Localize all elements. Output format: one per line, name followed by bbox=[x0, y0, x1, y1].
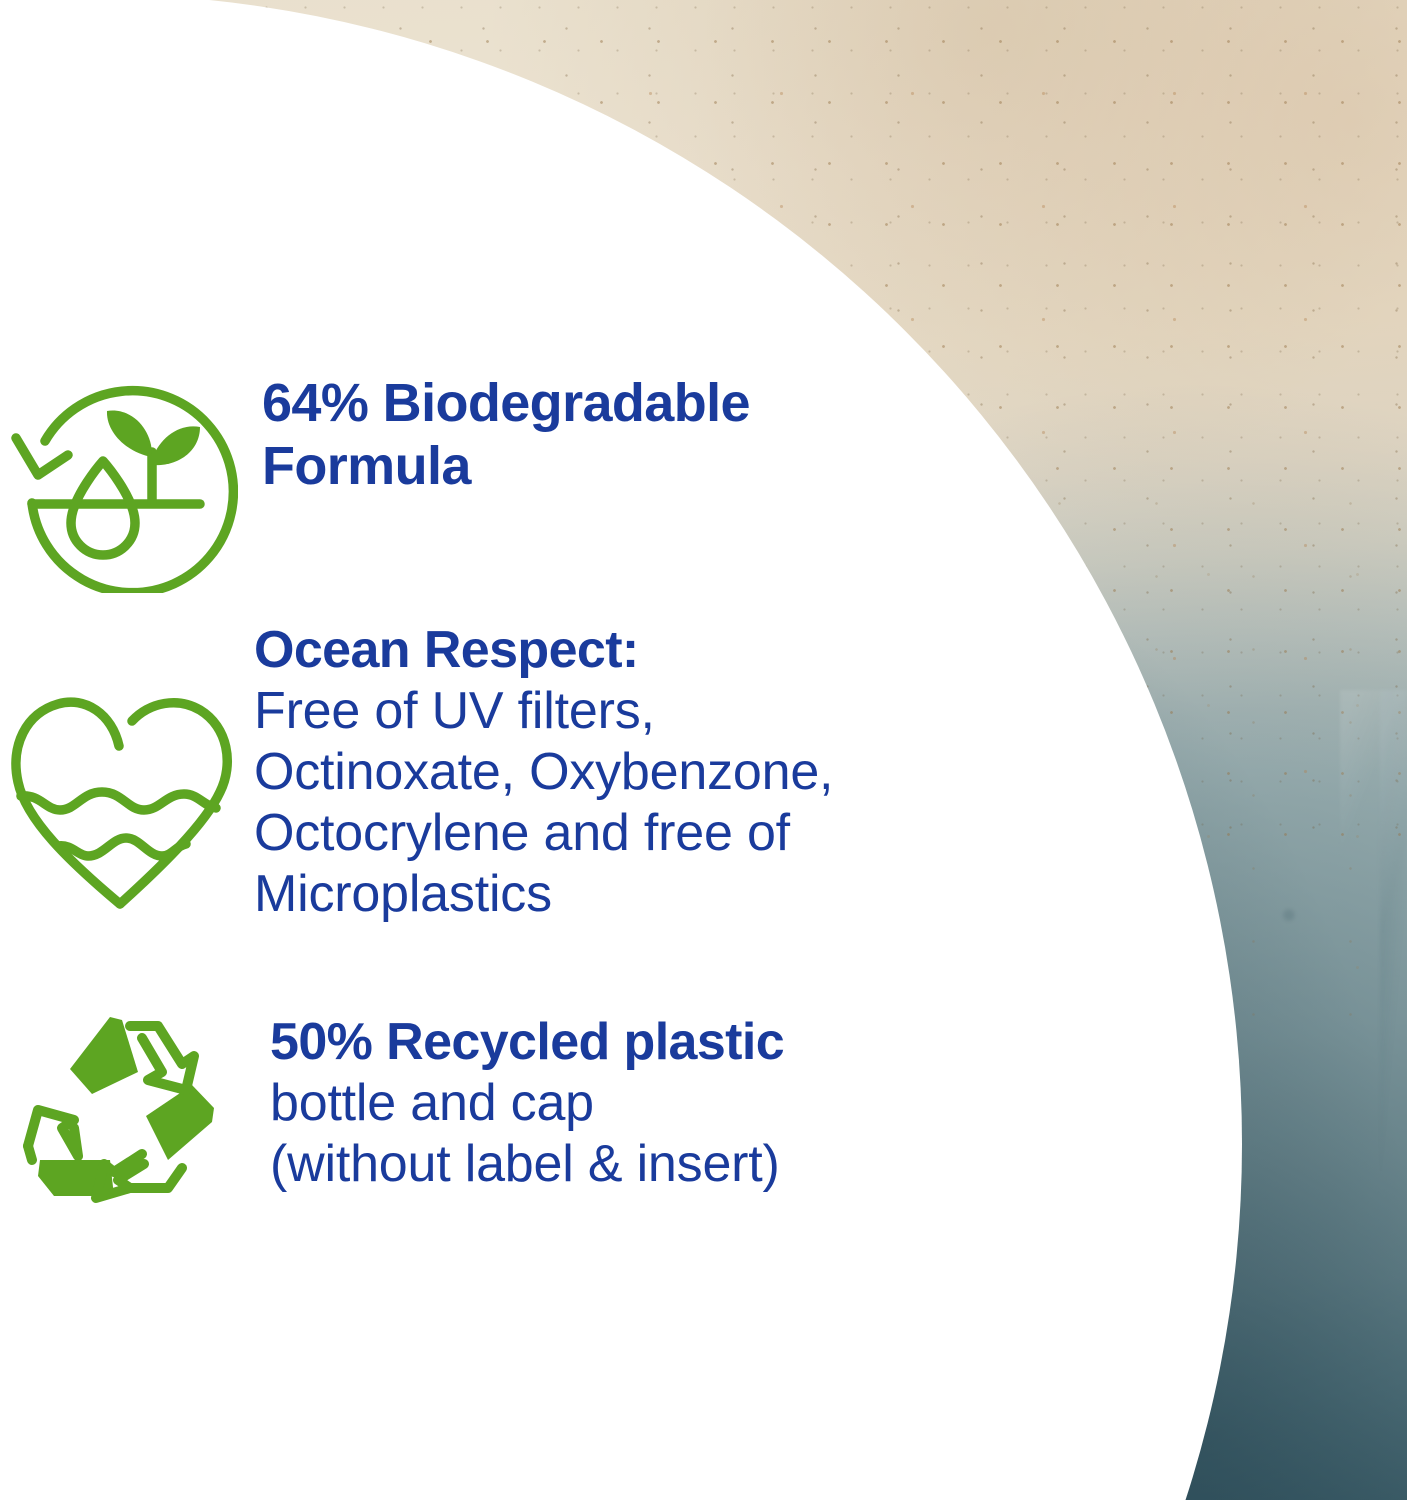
claim-text-cell: 50% Recycled plastic bottle and cap (wit… bbox=[270, 1012, 784, 1195]
claim-line: Octocrylene and free of bbox=[254, 803, 833, 864]
claims-content: 64% Biodegradable Formula bbox=[0, 0, 1060, 1500]
claim-icon-cell bbox=[0, 1012, 270, 1224]
claim-icon-cell bbox=[0, 372, 262, 593]
sprout-left-leaf bbox=[107, 411, 152, 457]
claim-line: 64% Biodegradable bbox=[262, 372, 750, 435]
claim-line: Ocean Respect: bbox=[254, 620, 833, 681]
claim-line: (without label & insert) bbox=[270, 1134, 784, 1195]
claim-line: 50% Recycled plastic bbox=[270, 1012, 784, 1073]
claim-text-cell: Ocean Respect: Free of UV filters, Octin… bbox=[254, 620, 833, 925]
claim-icon-cell bbox=[0, 620, 254, 916]
product-claims-panel: 64% Biodegradable Formula bbox=[0, 0, 1407, 1500]
claim-line: Free of UV filters, bbox=[254, 681, 833, 742]
claim-row-biodegradable: 64% Biodegradable Formula bbox=[0, 372, 750, 593]
claim-line: bottle and cap bbox=[270, 1073, 784, 1134]
claim-line: Octinoxate, Oxybenzone, bbox=[254, 742, 833, 803]
claim-line: Microplastics bbox=[254, 864, 833, 925]
recycling-arrows-icon bbox=[18, 1012, 234, 1224]
claim-text-cell: 64% Biodegradable Formula bbox=[262, 372, 750, 499]
sprout-right-leaf bbox=[152, 426, 200, 465]
biodegradable-cycle-plant-icon bbox=[10, 375, 238, 593]
claim-row-recycled-plastic: 50% Recycled plastic bottle and cap (wit… bbox=[0, 1012, 784, 1224]
claim-row-ocean-respect: Ocean Respect: Free of UV filters, Octin… bbox=[0, 620, 833, 925]
ocean-heart-wave-icon bbox=[2, 686, 242, 916]
claim-line: Formula bbox=[262, 435, 750, 498]
